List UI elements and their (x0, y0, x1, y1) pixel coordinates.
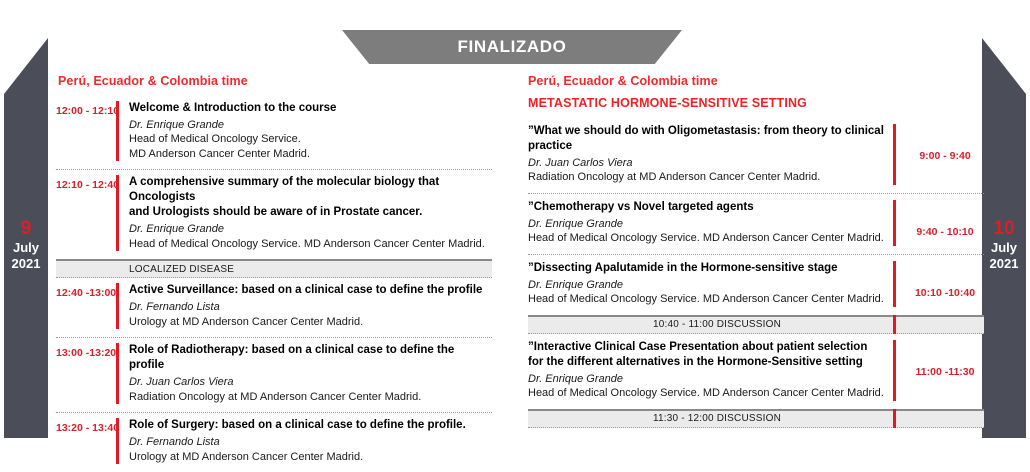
session-red-rule (893, 340, 896, 401)
session-time: 9:00 - 9:40 (906, 124, 984, 185)
session-time-label: 9:00 - 9:40 (919, 150, 970, 162)
session-red-rule (893, 124, 896, 185)
session-row[interactable]: ”Dissecting Apalutamide in the Hormone-s… (528, 255, 984, 315)
session-speaker: Dr. Enrique Grande (528, 217, 885, 232)
session-title: ”Interactive Clinical Case Presentation … (528, 340, 885, 355)
session-time: 11:00 -11:30 (906, 340, 984, 401)
session-time: 10:10 -10:40 (906, 261, 984, 307)
session-speaker: Dr. Juan Carlos Viera (129, 375, 492, 390)
session-body: ”Dissecting Apalutamide in the Hormone-s… (528, 261, 893, 307)
discussion-band-1-label: 10:40 - 11:00 DISCUSSION (653, 319, 781, 330)
session-red-rule (116, 175, 119, 251)
right-timezone-heading: Perú, Ecuador & Colombia time (528, 74, 984, 88)
session-body: Welcome & Introduction to the course Dr.… (129, 101, 492, 161)
session-time: 12:10 - 12:40 (56, 175, 116, 251)
session-affiliation: Head of Medical Oncology Service. MD And… (528, 292, 885, 307)
agenda-column-day-10: Perú, Ecuador & Colombia time METASTATIC… (528, 74, 984, 428)
session-title: A comprehensive summary of the molecular… (129, 175, 492, 205)
day-tab-left-month: July (13, 240, 39, 256)
discussion-band-2-label: 11:30 - 12:00 DISCUSSION (653, 413, 781, 424)
session-red-rule (116, 418, 119, 464)
session-time-label: 13:00 -13:20 (56, 347, 116, 359)
session-title: Welcome & Introduction to the course (129, 101, 492, 116)
discussion-band-red-rule (893, 409, 896, 428)
status-banner-label: FINALIZADO (458, 37, 567, 57)
session-red-rule (893, 261, 896, 307)
session-speaker: Dr. Fernando Lista (129, 435, 492, 450)
status-banner: FINALIZADO (342, 30, 682, 64)
discussion-band-2: 11:30 - 12:00 DISCUSSION (528, 409, 984, 428)
session-affiliation: Head of Medical Oncology Service. MD And… (129, 237, 492, 252)
session-time-label: 10:10 -10:40 (915, 287, 975, 299)
right-session-list: ”What we should do with Oligometastasis:… (528, 118, 984, 315)
session-row[interactable]: ”What we should do with Oligometastasis:… (528, 118, 984, 194)
day-tab-right-year: 2021 (990, 256, 1019, 272)
right-session-list-2: ”Interactive Clinical Case Presentation … (528, 334, 984, 409)
session-time-label: 12:40 -13:00 (56, 287, 116, 299)
session-title: Role of Radiotherapy: based on a clinica… (129, 343, 492, 373)
session-affiliation: Head of Medical Oncology Service. MD And… (528, 231, 885, 246)
left-session-list: 12:00 - 12:10 Welcome & Introduction to … (56, 96, 492, 259)
session-speaker: Dr. Fernando Lista (129, 300, 492, 315)
session-time-label: 12:10 - 12:40 (56, 179, 119, 191)
session-row[interactable]: ”Interactive Clinical Case Presentation … (528, 334, 984, 409)
session-speaker: Dr. Enrique Grande (528, 278, 885, 293)
session-row[interactable]: 12:10 - 12:40 A comprehensive summary of… (56, 170, 492, 259)
session-title-2: for the different alternatives in the Ho… (528, 355, 885, 370)
session-row[interactable]: 12:40 -13:00 Active Surveillance: based … (56, 278, 492, 338)
session-time: 13:00 -13:20 (56, 343, 116, 404)
session-body: Role of Radiotherapy: based on a clinica… (129, 343, 492, 404)
session-title: Role of Surgery: based on a clinical cas… (129, 418, 492, 433)
session-affiliation: Head of Medical Oncology Service. (129, 132, 492, 147)
session-title-2: and Urologists should be aware of in Pro… (129, 205, 492, 220)
session-body: Active Surveillance: based on a clinical… (129, 283, 492, 329)
session-row[interactable]: 13:20 - 13:40 Role of Surgery: based on … (56, 413, 492, 472)
session-red-rule (116, 343, 119, 404)
metastatic-setting-heading: METASTATIC HORMONE-SENSITIVE SETTING (528, 96, 984, 110)
session-body: ”Chemotherapy vs Novel targeted agents D… (528, 200, 893, 246)
session-red-rule (116, 283, 119, 329)
session-red-rule (116, 101, 119, 161)
day-tab-july-9[interactable]: 9 July 2021 (4, 38, 48, 438)
day-tab-left-day: 9 (21, 219, 32, 240)
session-affiliation: Urology at MD Anderson Cancer Center Mad… (129, 450, 492, 465)
session-row[interactable]: 12:00 - 12:10 Welcome & Introduction to … (56, 96, 492, 170)
session-row[interactable]: ”Chemotherapy vs Novel targeted agents D… (528, 194, 984, 255)
session-time-label: 9:40 - 10:10 (916, 226, 973, 238)
session-speaker: Dr. Juan Carlos Viera (528, 156, 885, 171)
left-session-list-2: 12:40 -13:00 Active Surveillance: based … (56, 278, 492, 472)
session-title: ”Chemotherapy vs Novel targeted agents (528, 200, 885, 215)
session-title: Active Surveillance: based on a clinical… (129, 283, 492, 298)
session-title: ”What we should do with Oligometastasis:… (528, 124, 885, 154)
session-body: A comprehensive summary of the molecular… (129, 175, 492, 251)
session-title: ”Dissecting Apalutamide in the Hormone-s… (528, 261, 885, 276)
session-body: ”What we should do with Oligometastasis:… (528, 124, 893, 185)
section-band-localized-disease: LOCALIZED DISEASE (56, 259, 492, 278)
session-time: 9:40 - 10:10 (906, 200, 984, 246)
day-tab-july-10[interactable]: 10 July 2021 (982, 38, 1026, 438)
session-time-label: 13:20 - 13:40 (56, 422, 119, 434)
session-speaker: Dr. Enrique Grande (129, 222, 492, 237)
session-red-rule (893, 200, 896, 246)
session-time: 12:40 -13:00 (56, 283, 116, 329)
left-timezone-heading: Perú, Ecuador & Colombia time (56, 74, 492, 88)
session-affiliation-2: MD Anderson Cancer Center Madrid. (129, 147, 492, 162)
session-affiliation: Radiation Oncology at MD Anderson Cancer… (528, 170, 885, 185)
session-affiliation: Head of Medical Oncology Service. MD And… (528, 386, 885, 401)
session-row[interactable]: 13:00 -13:20 Role of Radiotherapy: based… (56, 338, 492, 413)
day-tab-left-year: 2021 (12, 256, 41, 272)
section-band-label: LOCALIZED DISEASE (129, 264, 234, 275)
session-affiliation: Radiation Oncology at MD Anderson Cancer… (129, 390, 492, 405)
session-body: Role of Surgery: based on a clinical cas… (129, 418, 492, 464)
day-tab-right-month: July (991, 240, 1017, 256)
discussion-band-red-rule (893, 315, 896, 334)
session-body: ”Interactive Clinical Case Presentation … (528, 340, 893, 401)
session-time-label: 11:00 -11:30 (916, 366, 975, 378)
session-time-label: 12:00 - 12:10 (56, 105, 119, 117)
agenda-column-day-9: Perú, Ecuador & Colombia time 12:00 - 12… (56, 74, 492, 472)
session-affiliation: Urology at MD Anderson Cancer Center Mad… (129, 315, 492, 330)
session-speaker: Dr. Enrique Grande (528, 372, 885, 387)
session-time: 13:20 - 13:40 (56, 418, 116, 464)
day-tab-right-day: 10 (993, 219, 1014, 240)
session-speaker: Dr. Enrique Grande (129, 118, 492, 133)
discussion-band-1: 10:40 - 11:00 DISCUSSION (528, 315, 984, 334)
session-time: 12:00 - 12:10 (56, 101, 116, 161)
